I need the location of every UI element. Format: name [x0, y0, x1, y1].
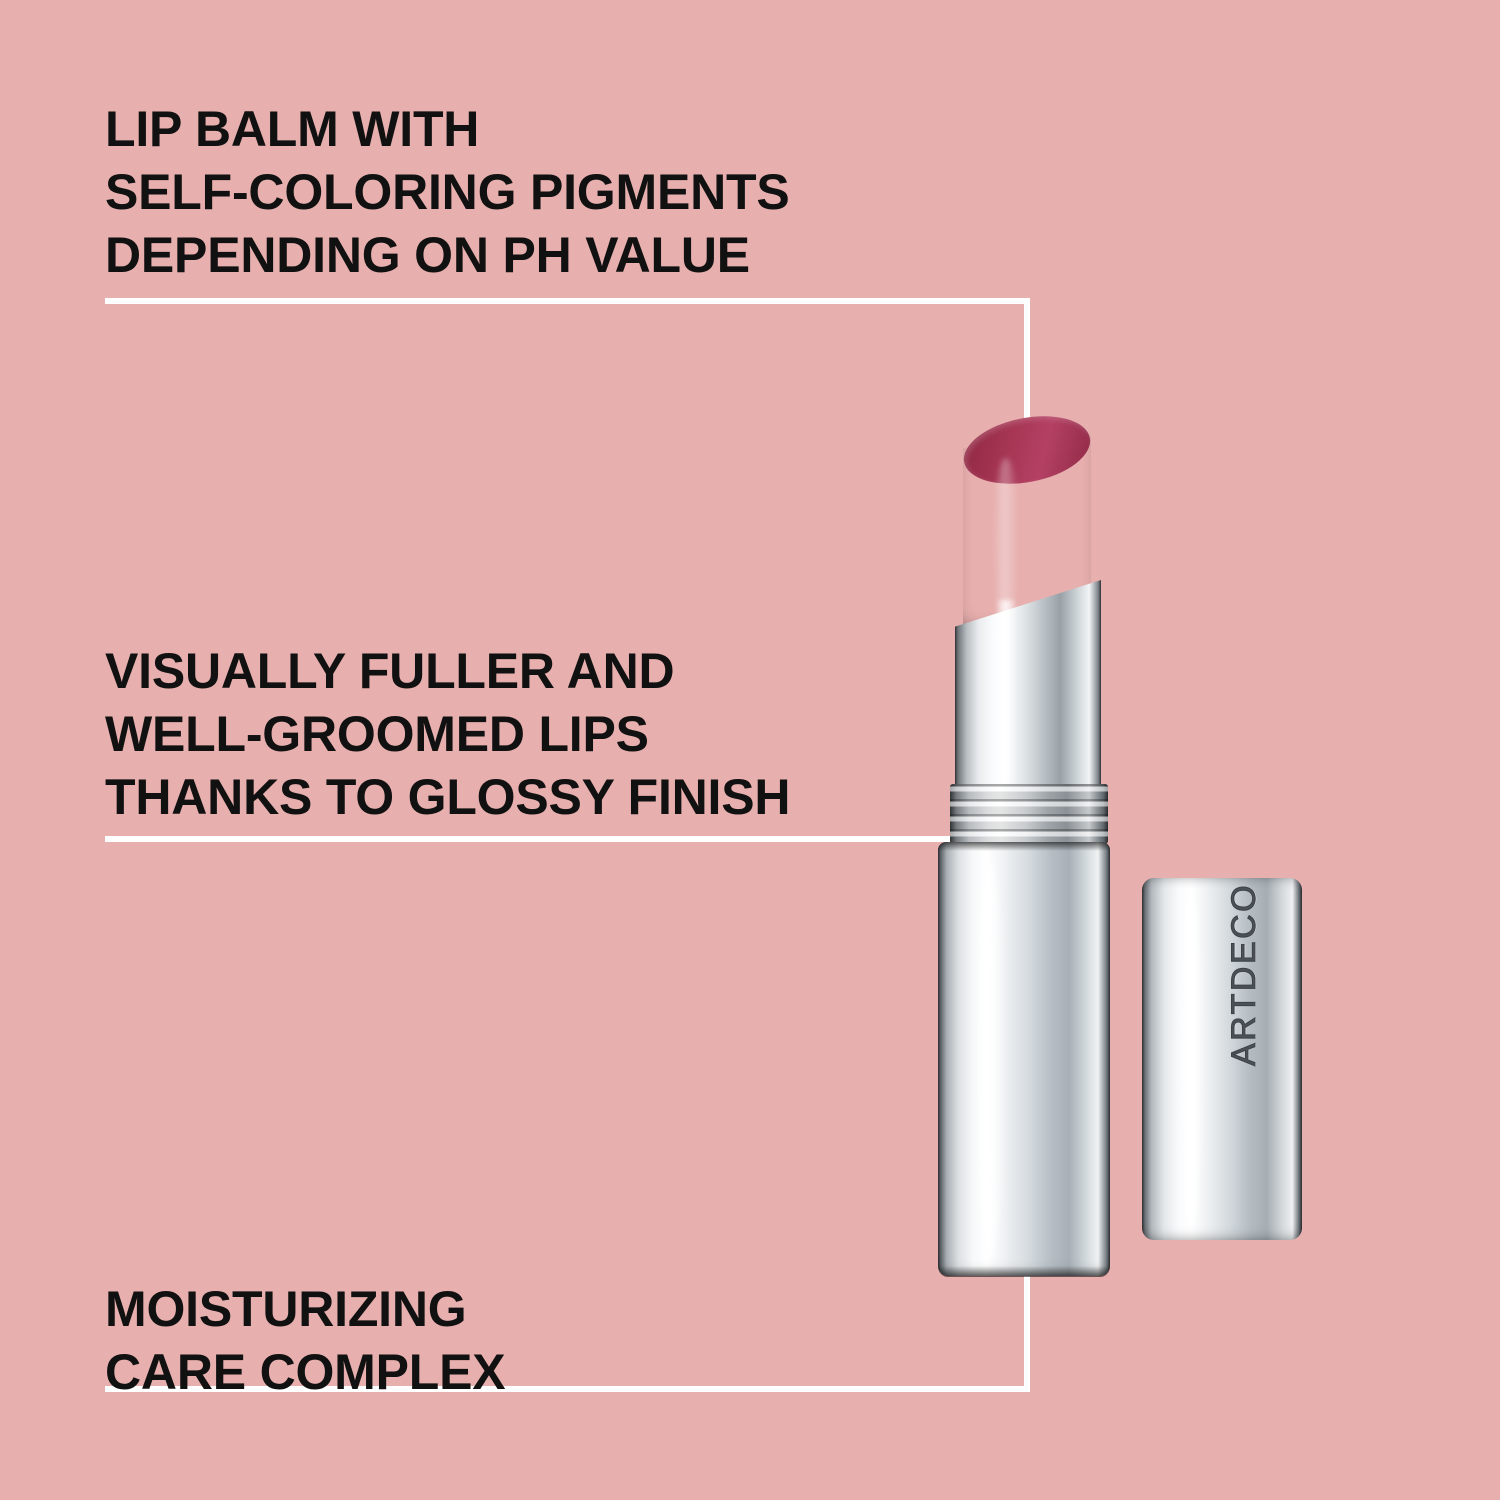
product-infographic: LIP BALM WITH SELF-COLORING PIGMENTS DEP… — [0, 0, 1500, 1500]
brand-logo-artdeco: ARTDECO — [1224, 846, 1264, 1066]
lipstick-bullet-gloss-highlight — [993, 458, 1019, 623]
lipstick-ribbed-collar — [950, 784, 1108, 844]
lipstick-product-image: ARTDECO — [0, 0, 1500, 1500]
lipstick-base-sheen — [975, 860, 1005, 1260]
lipstick-cap-sheen — [1178, 895, 1204, 1225]
lipstick-base-bottom-edge — [938, 1266, 1110, 1277]
lipstick-cap — [1142, 878, 1302, 1240]
lipstick-upper-sleeve-sheen — [995, 600, 1017, 785]
lipstick-base-tube — [938, 842, 1110, 1276]
lipstick-base-top-edge — [938, 842, 1110, 851]
